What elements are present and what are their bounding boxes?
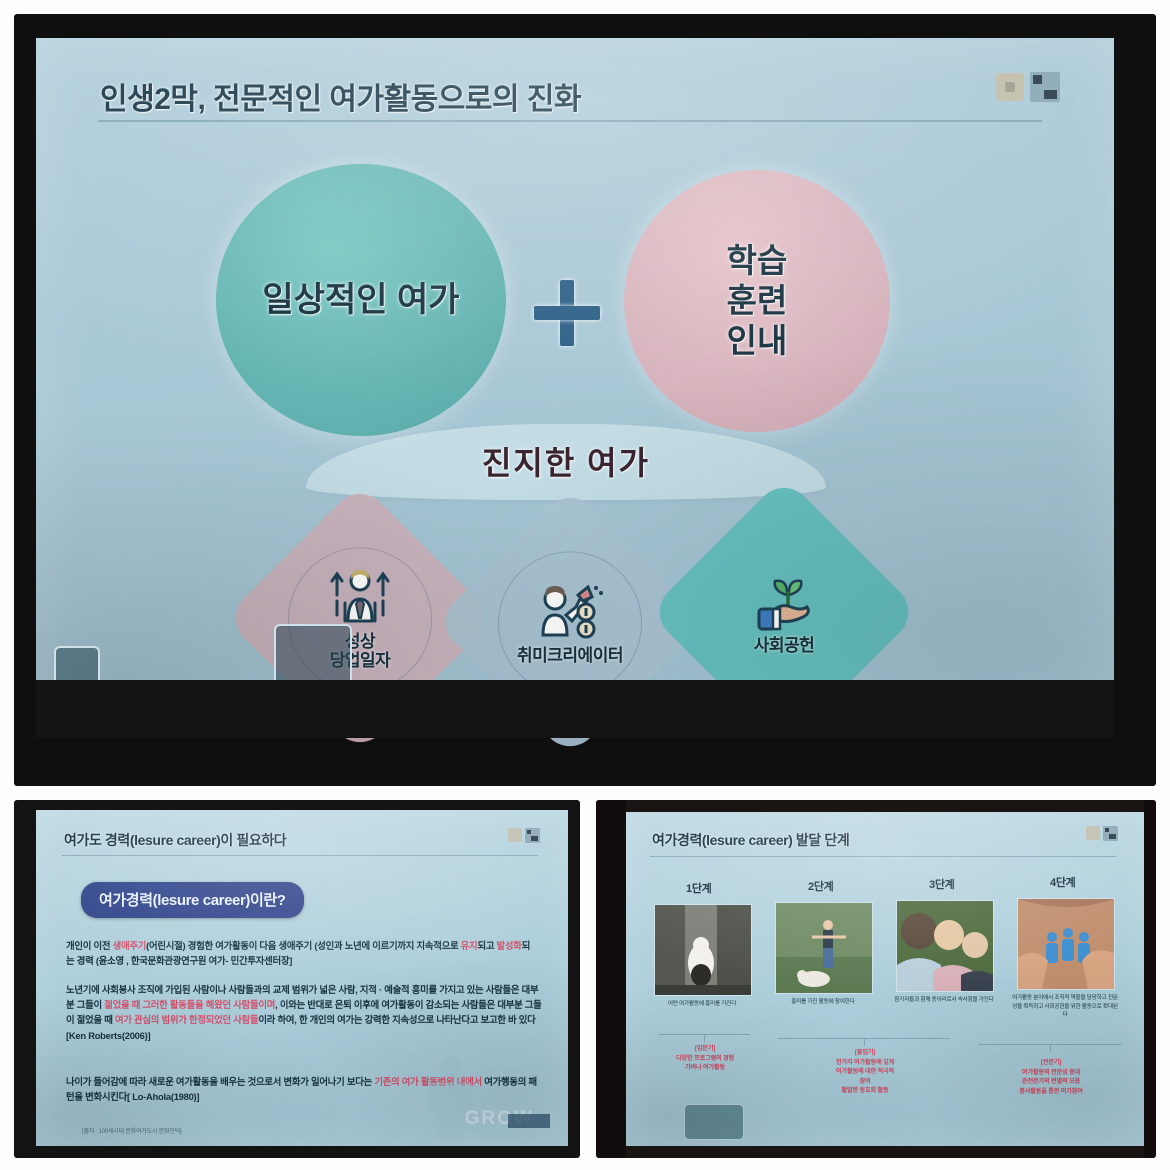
page-title: 인생2막, 전문적인 여가활동으로의 진화 (100, 74, 581, 118)
cat-on-stone-wall-photo (654, 904, 752, 996)
chair-silhouette (684, 1104, 744, 1140)
paragraph-1: 개인이 이전 생애주기(어린시절) 경험한 여가활동이 다음 생애주기 (성인과… (66, 938, 536, 968)
stage-label-3: 3단계 (929, 876, 954, 892)
serious-leisure-label: 진지한 여가 (306, 438, 826, 484)
title-divider (98, 120, 1042, 122)
circle-left-label: 일상적인 여가 (262, 279, 459, 322)
logo-group-left (508, 828, 540, 843)
three-friends-smiling-photo (896, 900, 994, 992)
qr-block-logo-icon (525, 828, 540, 843)
beige-square-logo-icon (508, 828, 522, 842)
diamond-label-3: 사회공헌 (754, 637, 815, 656)
source-note: [출처 : 100세시대 문화여가도시 문화언덕] (82, 1126, 181, 1135)
bottom-right-slide-photo: 여가경력(lesure career) 발달 단계 1단계 2단계 3단계 4단… (596, 800, 1156, 1158)
stage-label-2: 2단계 (808, 878, 833, 894)
stage-caption-3: 참가자들과 함께 동아리로서 속사항을 가진다 (890, 996, 998, 1005)
note-intro: [입문기] 다양한 프로그램의 경험가벼나 여가활동 (646, 1044, 764, 1073)
logo-group-right (1086, 826, 1118, 841)
screenshot-page: 인생2막, 전문적인 여가활동으로의 진화 일상적인 여가 학습훈련인내 진지한… (0, 0, 1170, 1170)
person-megaphone-coins-icon (533, 579, 607, 641)
circle-right-label: 학습훈련인내 (727, 241, 788, 362)
woman-slackline-with-dog-photo (775, 902, 873, 994)
main-slide-photo: 인생2막, 전문적인 여가활동으로의 진화 일상적인 여가 학습훈련인내 진지한… (14, 14, 1156, 786)
stage-caption-2: 흥미를 가진 활동에 참여한다 (769, 998, 877, 1007)
page-title-right: 여가경력(lesure career) 발달 단계 (652, 830, 849, 850)
beige-square-logo-icon (996, 73, 1024, 101)
person-growth-arrows-icon (323, 565, 397, 627)
hand-sprout-icon (747, 569, 821, 631)
beige-square-logo-icon (1086, 826, 1100, 840)
projection-surface-right: 여가경력(lesure career) 발달 단계 1단계 2단계 3단계 4단… (626, 812, 1144, 1146)
title-divider-left (62, 855, 538, 856)
note-expert: [전문기] 여가활동의 전문성 증대준전문가의 변별력 모음봉사활동을 통한 여… (992, 1058, 1110, 1096)
section-heading-badge: 여가경력(lesure career)이란? (81, 882, 304, 918)
projection-surface-left: 여가도 경력(lesure career)이 필요하다 여가경력(lesure … (36, 810, 568, 1146)
note-lines-2: 한가지 여가활동에 깊게여가활동에 대한 적극적참여활발한 동호회 활동 (806, 1058, 924, 1096)
note-title-3: [전문기] (992, 1058, 1110, 1068)
connector-tick-3 (1050, 1044, 1051, 1052)
paragraph-2: 노년기에 사회봉사 조직에 가입된 사람이나 사람들과의 교제 범위가 넓은 사… (66, 982, 544, 1043)
dark-foreground-band (36, 680, 1114, 738)
page-title-left: 여가도 경력(lesure career)이 필요하다 (64, 830, 286, 850)
qr-block-logo-icon (1030, 72, 1060, 102)
watermark-bar (508, 1114, 550, 1128)
note-lines-3: 여가활동의 전문성 증대준전문가의 변별력 모음봉사활동을 통한 여가참여 (992, 1068, 1110, 1097)
logo-group (996, 72, 1060, 102)
projection-surface-main: 인생2막, 전문적인 여가활동으로의 진화 일상적인 여가 학습훈련인내 진지한… (36, 38, 1114, 738)
stage-label-4: 4단계 (1050, 874, 1075, 890)
stage-caption-1: 어떤 여가활동에 흥미를 가진다 (648, 1000, 756, 1009)
circle-daily-leisure: 일상적인 여가 (216, 164, 506, 436)
qr-block-logo-icon (1103, 826, 1118, 841)
title-divider-right (650, 856, 1116, 857)
stage-label-1: 1단계 (686, 880, 711, 896)
photo-edge-left (596, 800, 626, 1158)
note-title-2: [몰입기] (806, 1048, 924, 1058)
note-title-1: [입문기] (646, 1044, 764, 1054)
note-lines-1: 다양한 프로그램의 경험가벼나 여가활동 (646, 1054, 764, 1073)
circle-learning-training: 학습훈련인내 (624, 170, 890, 432)
note-immersion: [몰입기] 한가지 여가활동에 깊게여가활동에 대한 적극적참여활발한 동호회 … (806, 1048, 924, 1096)
plus-icon (534, 280, 600, 346)
connector-tick-2 (864, 1038, 865, 1046)
connector-tick-1 (704, 1034, 705, 1042)
diamond-label-2: 취미크리에이터 (517, 647, 623, 666)
photo-edge-right (1144, 800, 1156, 1158)
stage-caption-4: 여가활동 분야에서 조직적 역할을 담당하고 전문성을 획득하고 사회공헌을 위… (1011, 994, 1119, 1020)
bottom-left-slide-photo: 여가도 경력(lesure career)이 필요하다 여가경력(lesure … (14, 800, 580, 1158)
hands-holding-paper-people-photo (1017, 898, 1115, 990)
